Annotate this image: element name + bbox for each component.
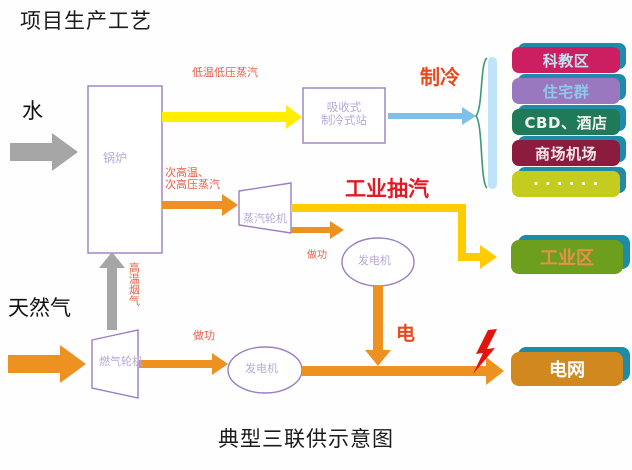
boiler-label: 锅炉 bbox=[103, 152, 127, 165]
water-input-arrow bbox=[10, 133, 78, 171]
sub-high-steam-label: 次高温、 次高压蒸汽 bbox=[165, 167, 220, 192]
consumer-chip[interactable]: CBD、酒店 bbox=[512, 109, 620, 135]
natural-gas-input-label: 天然气 bbox=[8, 297, 71, 321]
natural-gas-input-arrow bbox=[8, 345, 86, 383]
steam-turbine-shape bbox=[239, 183, 291, 233]
electricity-down-arrow bbox=[365, 286, 391, 366]
consumer-chip[interactable]: 商场机场 bbox=[512, 140, 620, 166]
absorption-chiller-label-line2: 制冷式站 bbox=[307, 114, 381, 127]
water-input-label: 水 bbox=[22, 100, 43, 124]
consumer-chip[interactable]: · · · · · · bbox=[512, 171, 620, 197]
flue-gas-label: 高温烟气 bbox=[127, 262, 139, 306]
power-grid-arrow bbox=[302, 357, 504, 385]
work-label-bottom: 做功 bbox=[193, 330, 215, 342]
gas-turbine-label: 燃气轮机 bbox=[99, 356, 143, 368]
sub-high-steam-arrow bbox=[162, 194, 238, 216]
diagram-caption: 典型三联供示意图 bbox=[218, 428, 394, 452]
consumer-brace bbox=[476, 57, 497, 189]
consumer-chip[interactable]: 科教区 bbox=[512, 47, 620, 73]
low-pressure-steam-label: 低温低压蒸汽 bbox=[192, 67, 258, 79]
diagram-canvas: 项目生产工艺 典型三联供示意图 水 天然气 低温低压蒸汽 次高温、 次高压蒸汽 … bbox=[0, 0, 632, 470]
cooling-arrow bbox=[388, 107, 476, 125]
sub-high-steam-label-line2: 次高压蒸汽 bbox=[165, 179, 220, 191]
absorption-chiller-label-line1: 吸收式 bbox=[307, 101, 381, 114]
boiler-box bbox=[88, 86, 162, 253]
low-pressure-steam-arrow bbox=[162, 105, 302, 129]
electricity-label: 电 bbox=[396, 324, 415, 345]
work-label-top: 做功 bbox=[307, 250, 327, 261]
work-arrow-top bbox=[291, 221, 344, 239]
destination-box-power_grid[interactable]: 电网 bbox=[511, 352, 623, 386]
work-arrow-bottom bbox=[139, 353, 228, 375]
absorption-chiller-label: 吸收式 制冷式站 bbox=[307, 101, 381, 127]
consumer-chip[interactable]: 住宅群 bbox=[512, 78, 620, 104]
flue-gas-arrow bbox=[99, 252, 125, 330]
industrial-extraction-label: 工业抽汽 bbox=[345, 178, 429, 202]
generator-bottom-label: 发电机 bbox=[245, 363, 278, 375]
steam-turbine-label: 蒸汽轮机 bbox=[243, 213, 287, 225]
generator-top-label: 发电机 bbox=[358, 255, 391, 267]
destination-box-industrial_zone[interactable]: 工业区 bbox=[511, 240, 623, 274]
page-title: 项目生产工艺 bbox=[20, 10, 152, 34]
cooling-label: 制冷 bbox=[420, 66, 460, 88]
